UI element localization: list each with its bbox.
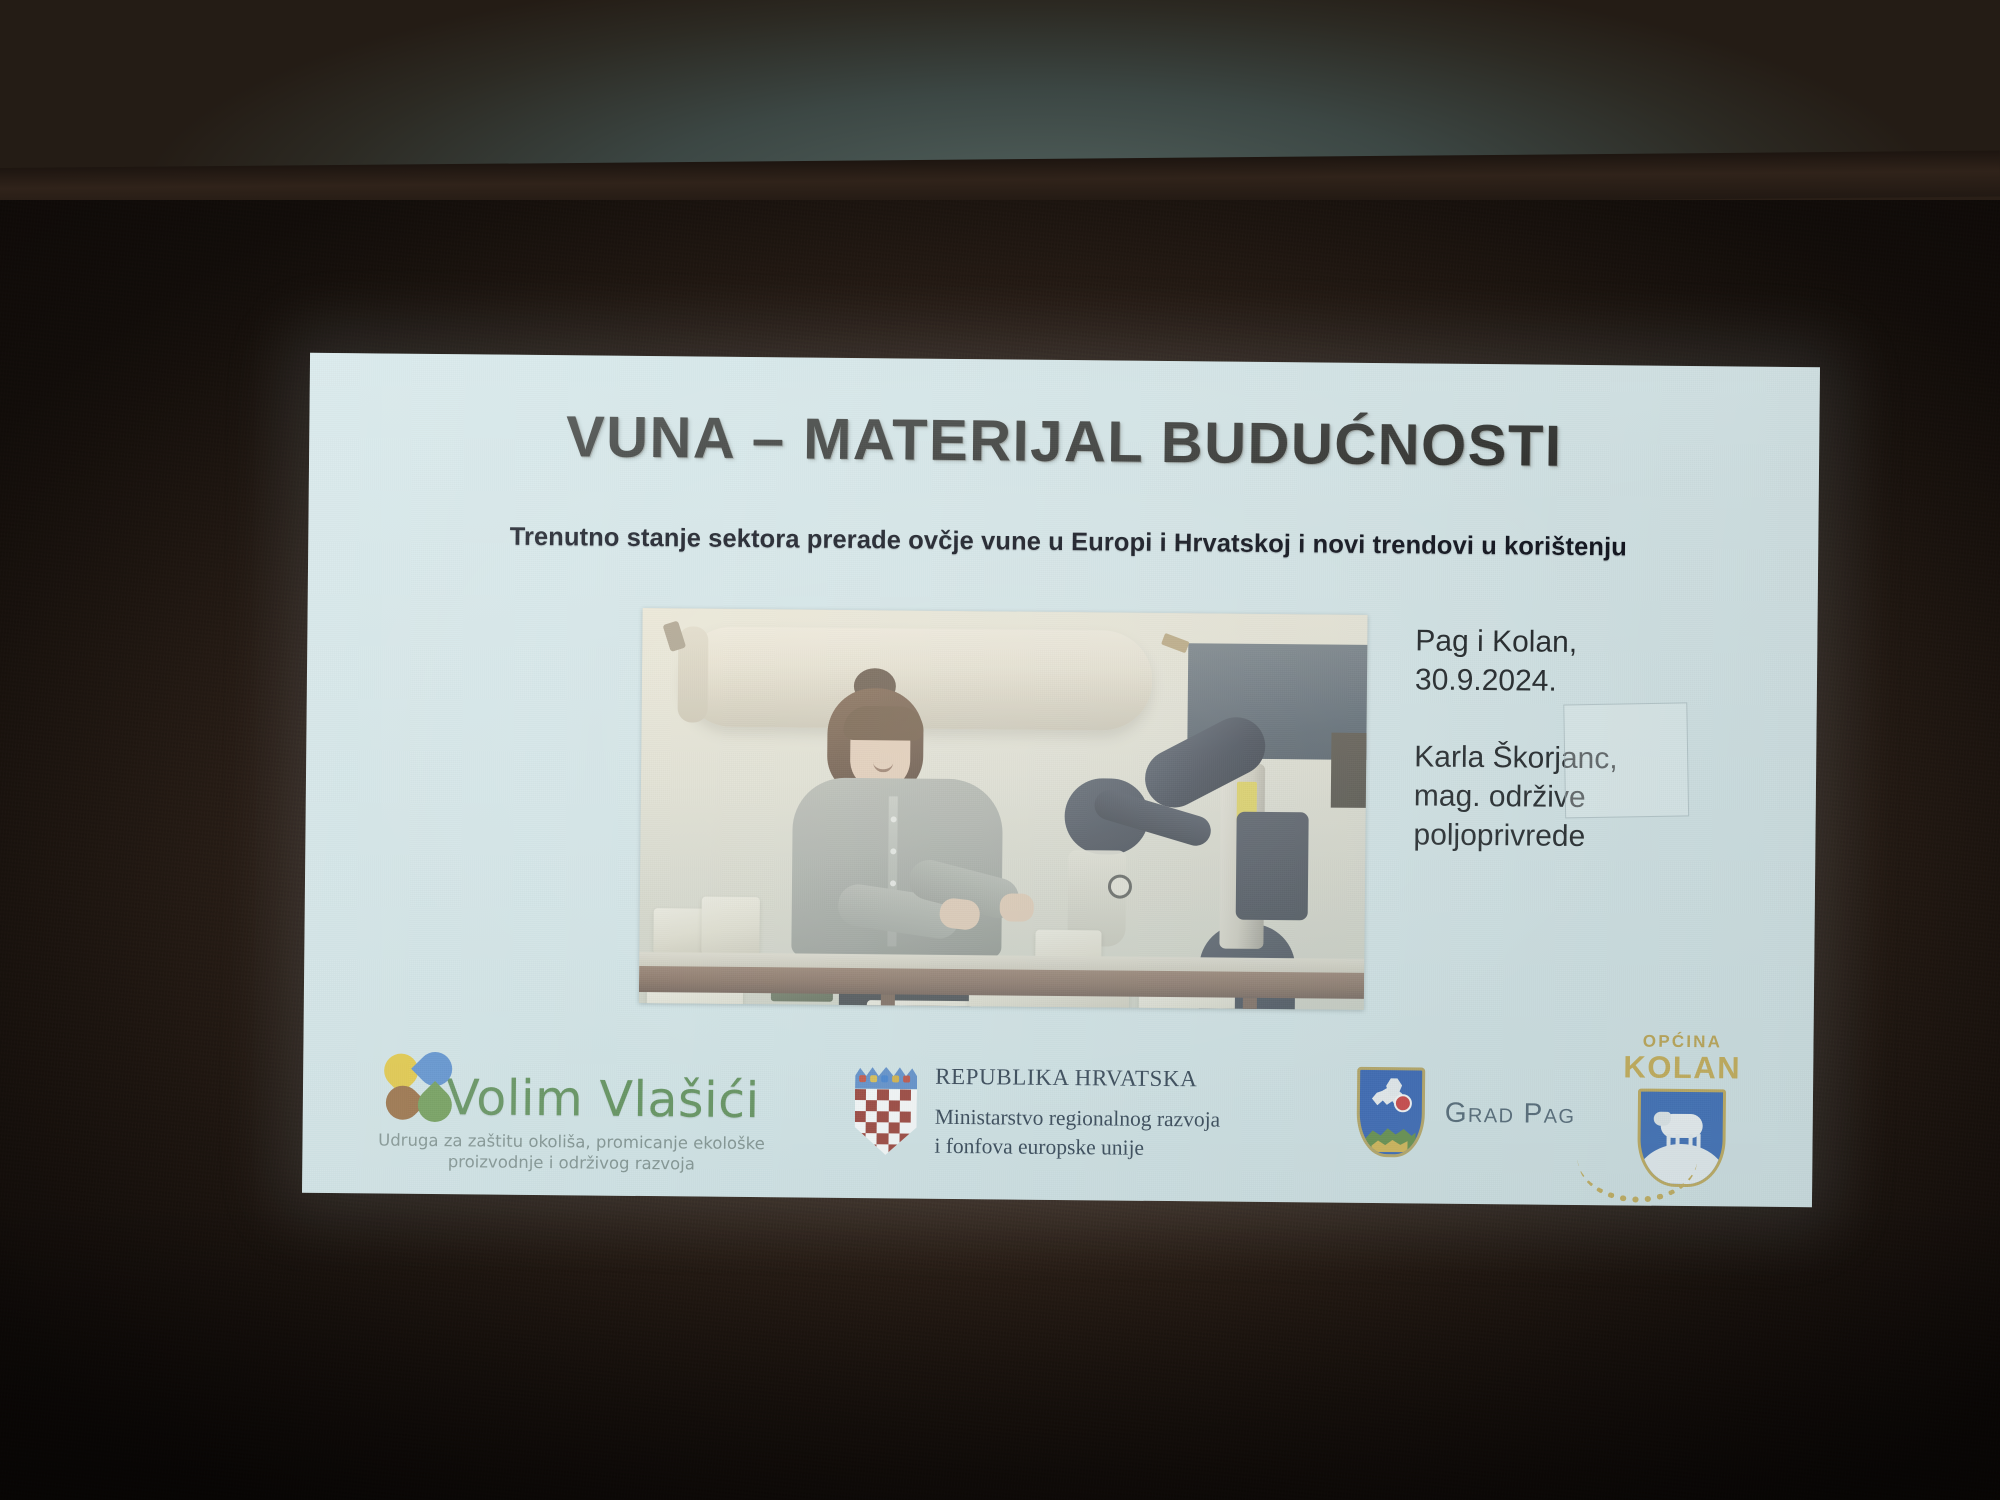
slide-meta-block: Pag i Kolan, 30.9.2024. Karla Škorjanc, … — [1413, 621, 1745, 857]
presentation-slide: VUNA – MATERIJAL BUDUĆNOSTI Trenutno sta… — [302, 353, 1820, 1207]
republika-title: REPUBLIKA HRVATSKA — [935, 1061, 1221, 1095]
logo-republika-hrvatska: REPUBLIKA HRVATSKA Ministarstvo regional… — [854, 1060, 1220, 1165]
kolan-name-label: KOLAN — [1623, 1049, 1741, 1086]
meta-role-line2: poljoprivrede — [1413, 815, 1743, 857]
logo-opcina-kolan: OPĆINA KOLAN — [1596, 1031, 1767, 1188]
sheep-head-icon — [1654, 1112, 1671, 1126]
meta-spacer — [1414, 699, 1744, 740]
pag-coat-of-arms-icon — [1356, 1067, 1425, 1158]
four-petal-icon — [384, 1052, 459, 1127]
meta-date: 30.9.2024. — [1415, 660, 1745, 702]
republika-text: REPUBLIKA HRVATSKA Ministarstvo regional… — [934, 1061, 1220, 1165]
floor-shadow — [0, 1200, 2000, 1500]
photo-projection-wash — [639, 608, 1368, 1010]
petal-green-icon — [411, 1081, 459, 1129]
laurel-wreath-icon — [1577, 1150, 1697, 1203]
green-block — [798, 1007, 850, 1009]
wool-block — [744, 1009, 792, 1010]
logo-grad-pag: Grad Pag — [1356, 1067, 1575, 1159]
rose-icon — [1394, 1094, 1412, 1112]
slide-photo — [639, 608, 1368, 1010]
projection-area: VUNA – MATERIJAL BUDUĆNOSTI Trenutno sta… — [302, 353, 1820, 1207]
logo-volim-vlasici: Volim Vlašići Udruga za zaštitu okoliša,… — [356, 1051, 787, 1176]
checkerboard-icon — [854, 1089, 917, 1156]
ministry-line2: i fonfova europske unije — [934, 1132, 1220, 1164]
ministry-line1: Ministarstvo regionalnog razvoja — [935, 1103, 1221, 1135]
volim-tagline: Udruga za zaštitu okoliša, promicanje ek… — [361, 1129, 781, 1176]
meta-author: Karla Škorjanc, — [1414, 737, 1744, 779]
meta-place: Pag i Kolan, — [1415, 621, 1745, 663]
slide-subtitle: Trenutno stanje sektora prerade ovčje vu… — [354, 521, 1782, 564]
slide-title: VUNA – MATERIJAL BUDUĆNOSTI — [309, 401, 1820, 482]
crown-icon — [855, 1067, 917, 1090]
croatian-coat-of-arms-icon — [854, 1067, 917, 1156]
meta-role-line1: mag. održive — [1414, 776, 1744, 818]
republika-ministry: Ministarstvo regionalnog razvoja i fonfo… — [934, 1103, 1220, 1165]
grad-pag-label: Grad Pag — [1445, 1097, 1576, 1130]
slide-footer-logos: Volim Vlašići Udruga za zaštitu okoliša,… — [302, 1033, 1813, 1207]
volim-logo-row: Volim Vlašići — [384, 1052, 760, 1130]
volim-tagline-line2: proizvodnje i održivog razvoja — [361, 1151, 781, 1176]
volim-name: Volim Vlašići — [446, 1069, 760, 1129]
